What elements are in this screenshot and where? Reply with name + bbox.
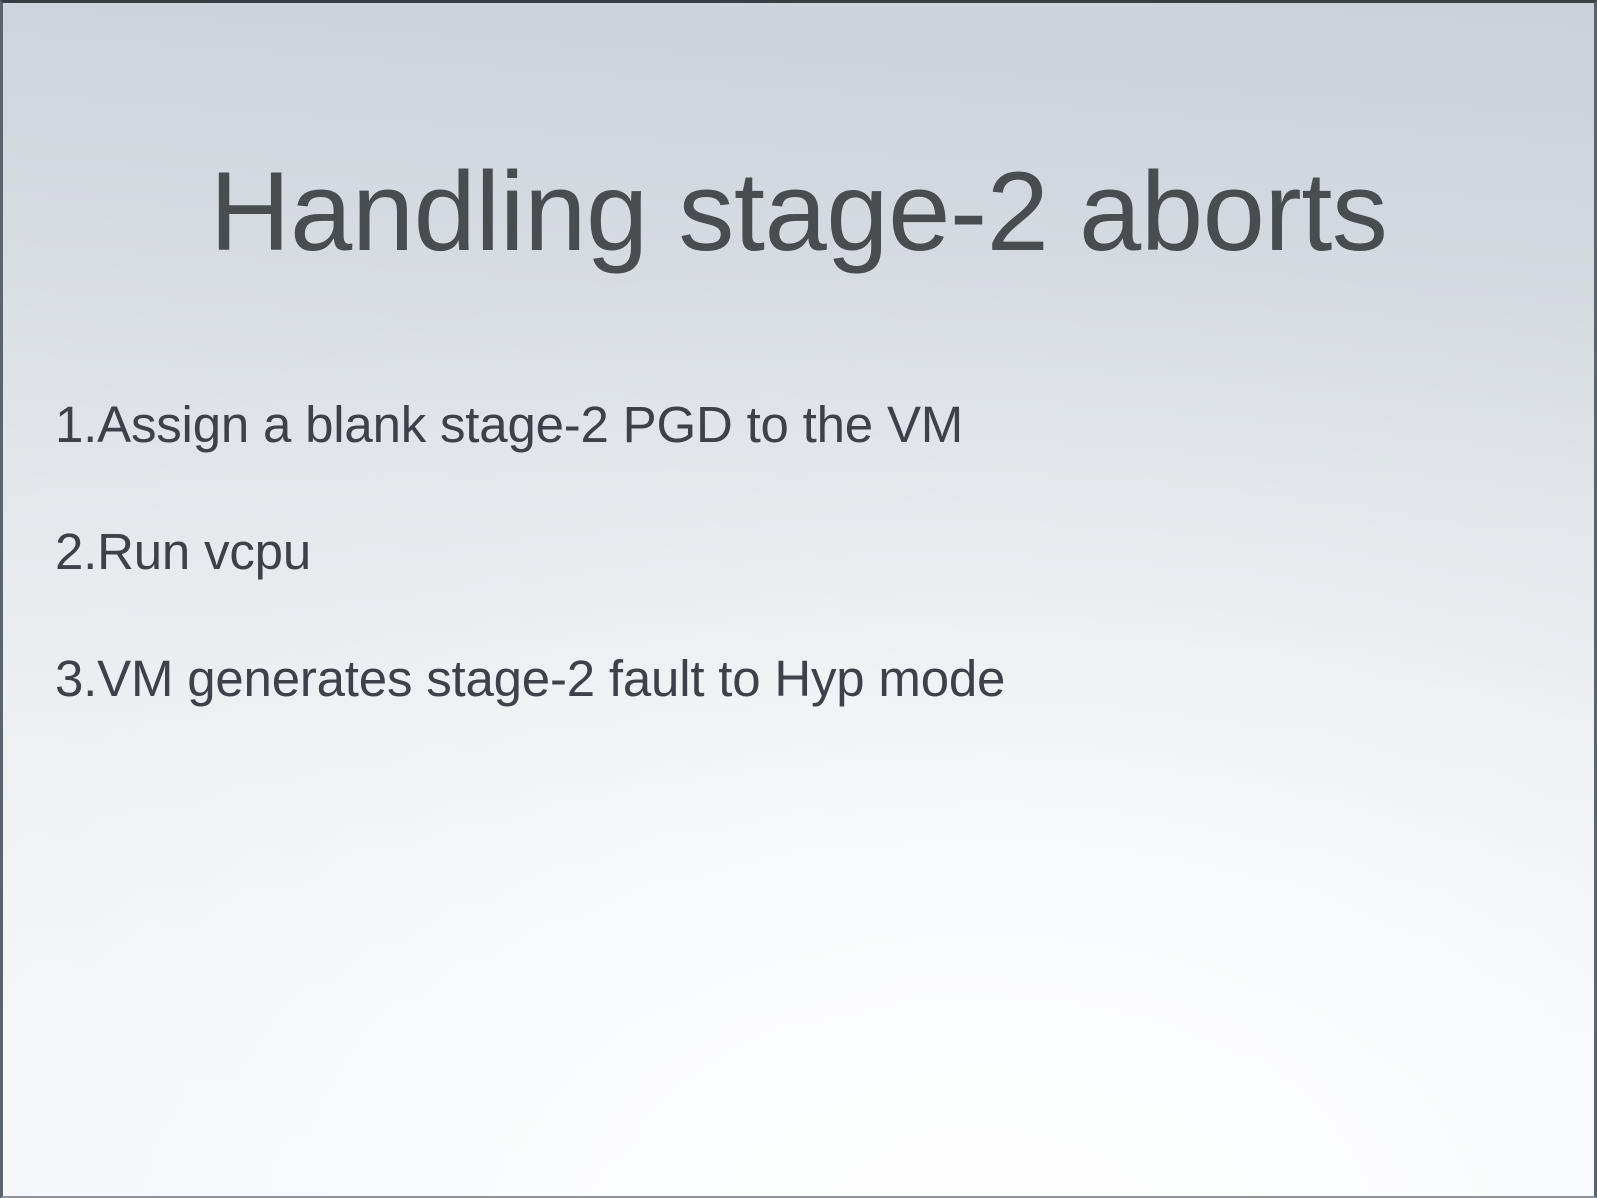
numbered-list: 1.Assign a blank stage-2 PGD to the VM 2…	[55, 395, 1474, 710]
list-item-text: Assign a blank stage-2 PGD to the VM	[97, 396, 963, 453]
list-item-text: VM generates stage-2 fault to Hyp mode	[97, 650, 1005, 707]
list-item-number: 2.	[55, 523, 97, 580]
list-item: 2.Run vcpu	[55, 522, 1474, 582]
list-item-text: Run vcpu	[97, 523, 311, 580]
slide-content: Handling stage-2 aborts 1.Assign a blank…	[3, 3, 1594, 1196]
list-item: 3.VM generates stage-2 fault to Hyp mode	[55, 649, 1474, 709]
slide-title: Handling stage-2 aborts	[3, 152, 1594, 273]
presentation-slide: Handling stage-2 aborts 1.Assign a blank…	[0, 0, 1597, 1198]
list-item-number: 3.	[55, 650, 97, 707]
list-item: 1.Assign a blank stage-2 PGD to the VM	[55, 395, 1474, 455]
list-item-number: 1.	[55, 396, 97, 453]
